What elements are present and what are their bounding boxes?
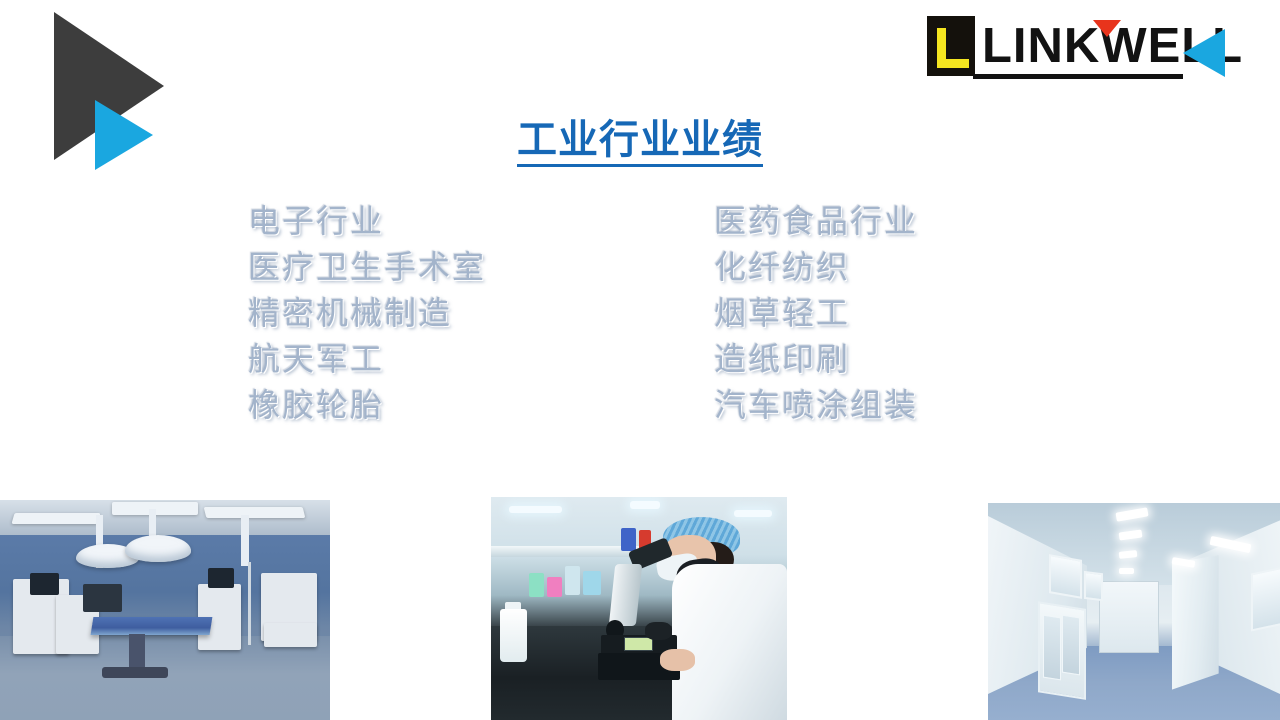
list-item: 电子行业 — [248, 198, 486, 244]
cleanroom-corridor-photo — [988, 503, 1280, 720]
cr-cabinet-door — [1062, 614, 1080, 675]
or-monitor — [208, 568, 234, 588]
or-table-base — [102, 667, 168, 678]
or-table-column — [129, 634, 146, 669]
lab-gloved-hand — [645, 622, 672, 640]
lab-white-coat — [672, 564, 787, 720]
lab-bottle — [500, 609, 527, 663]
lab-container — [621, 528, 636, 550]
list-item: 精密机械制造 — [248, 290, 486, 336]
or-operating-table — [91, 617, 213, 635]
industry-list-left: 电子行业 医疗卫生手术室 精密机械制造 航天军工 橡胶轮胎 — [248, 198, 486, 428]
cr-window — [1084, 571, 1103, 601]
red-triangle-icon — [1093, 20, 1121, 37]
industry-lists: 电子行业 医疗卫生手术室 精密机械制造 航天军工 橡胶轮胎 医药食品行业 化纤纺… — [0, 198, 1280, 438]
or-surgical-lamp — [125, 535, 191, 561]
logo-badge — [927, 16, 975, 76]
lab-container — [583, 571, 601, 596]
list-item: 造纸印刷 — [714, 336, 918, 382]
list-item: 汽车喷涂组装 — [714, 382, 918, 428]
or-ceiling-panel — [203, 507, 305, 518]
list-item: 医药食品行业 — [714, 198, 918, 244]
lab-container — [565, 566, 580, 595]
page-title: 工业行业业绩 — [0, 117, 1280, 167]
lab-container — [547, 577, 562, 597]
logo-underline-rule — [973, 74, 1183, 79]
or-iv-pole — [248, 562, 251, 646]
laboratory-microscope-photo — [491, 497, 787, 720]
cr-end-wall — [1099, 581, 1159, 652]
list-item: 橡胶轮胎 — [248, 382, 486, 428]
list-item: 航天军工 — [248, 336, 486, 382]
or-pendant-arm — [241, 515, 249, 566]
list-item: 化纤纺织 — [714, 244, 918, 290]
or-monitor — [30, 573, 60, 595]
linkwell-logo: LINKWELL — [925, 12, 1245, 82]
cr-window — [1049, 554, 1082, 599]
or-equipment-cart — [264, 623, 317, 647]
operating-room-photo — [0, 500, 330, 720]
lab-ceiling-light — [509, 506, 562, 513]
lab-container — [529, 573, 544, 598]
list-item: 烟草轻工 — [714, 290, 918, 336]
industry-list-right: 医药食品行业 化纤纺织 烟草轻工 造纸印刷 汽车喷涂组装 — [714, 198, 918, 428]
list-item: 医疗卫生手术室 — [248, 244, 486, 290]
lab-ceiling-light — [734, 510, 772, 517]
cr-window — [1251, 567, 1280, 632]
lab-ceiling-light — [630, 501, 660, 509]
cyan-arrow-icon — [1183, 29, 1225, 77]
lab-hand — [660, 649, 696, 671]
page-title-text: 工业行业业绩 — [517, 117, 763, 167]
cr-pillar — [1172, 555, 1219, 690]
cr-ceiling-light — [1119, 568, 1134, 573]
or-ceiling-panel — [12, 513, 101, 524]
presentation-slide: LINKWELL 工业行业业绩 电子行业 医疗卫生手术室 精密机械制造 航天军工… — [0, 0, 1280, 720]
cr-cabinet-door — [1043, 614, 1061, 680]
logo-letter-l-foot — [937, 59, 969, 68]
or-monitor — [83, 584, 123, 613]
lab-microscope-display — [624, 637, 653, 650]
